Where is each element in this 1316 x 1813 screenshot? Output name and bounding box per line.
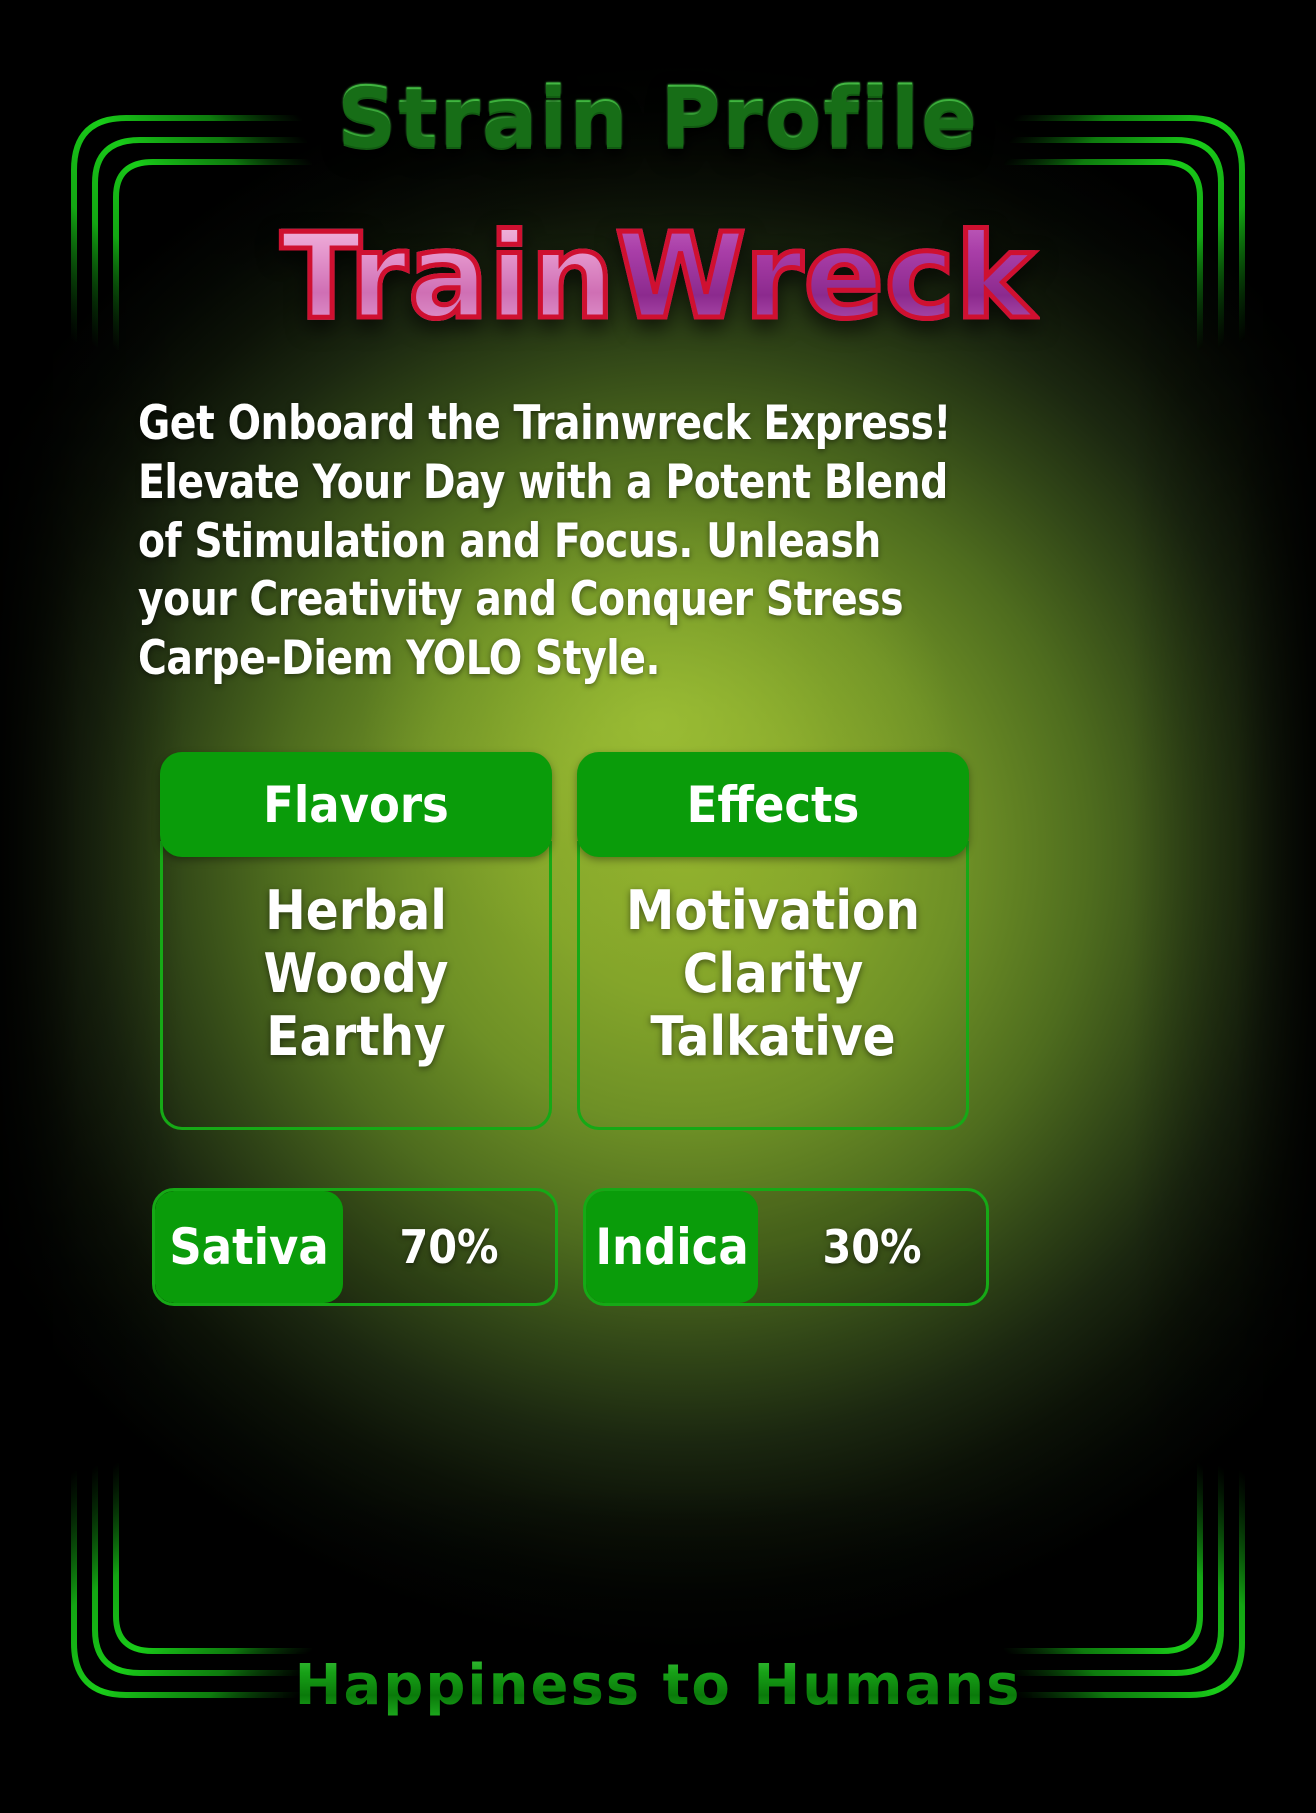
sativa-ratio-bar: Sativa 70% [152,1188,558,1306]
description-line: your Creativity and Conquer Stress [138,571,956,630]
indica-percent: 30% [758,1220,986,1274]
indica-ratio-bar: Indica 30% [583,1188,989,1306]
attribute-cards: Flavors Herbal Woody Earthy Effects Moti… [160,752,1160,1130]
description-line: Elevate Your Day with a Potent Blend [138,454,956,513]
strain-name: TrainWreck [0,215,1316,339]
genetics-ratio-bars: Sativa 70% Indica 30% [152,1188,1164,1306]
strain-name-part-one: Train [281,207,616,345]
list-item: Motivation [580,879,966,942]
page-title: Strain Profile [0,70,1316,165]
strain-profile-poster: Strain Profile TrainWreck Get Onboard th… [0,0,1316,1813]
list-item: Earthy [163,1005,549,1068]
list-item: Clarity [580,942,966,1005]
description-line: of Stimulation and Focus. Unleash [138,513,956,572]
effects-card: Effects Motivation Clarity Talkative [577,752,969,1130]
footer-tagline: Happiness to Humans [0,1653,1316,1718]
flavors-card-body: Herbal Woody Earthy [160,841,552,1130]
flavors-card: Flavors Herbal Woody Earthy [160,752,552,1130]
sativa-percent: 70% [343,1220,555,1274]
flavors-card-heading: Flavors [160,752,552,857]
strain-description: Get Onboard the Trainwreck Express! Elev… [138,395,956,689]
description-line: Carpe-Diem YOLO Style. [138,630,956,689]
list-item: Herbal [163,879,549,942]
list-item: Talkative [580,1005,966,1068]
sativa-label: Sativa [155,1191,343,1303]
strain-name-part-two: Wreck [616,207,1036,345]
effects-card-body: Motivation Clarity Talkative [577,841,969,1130]
list-item: Woody [163,942,549,1005]
description-line: Get Onboard the Trainwreck Express! [138,395,956,454]
effects-card-heading: Effects [577,752,969,857]
indica-label: Indica [586,1191,758,1303]
